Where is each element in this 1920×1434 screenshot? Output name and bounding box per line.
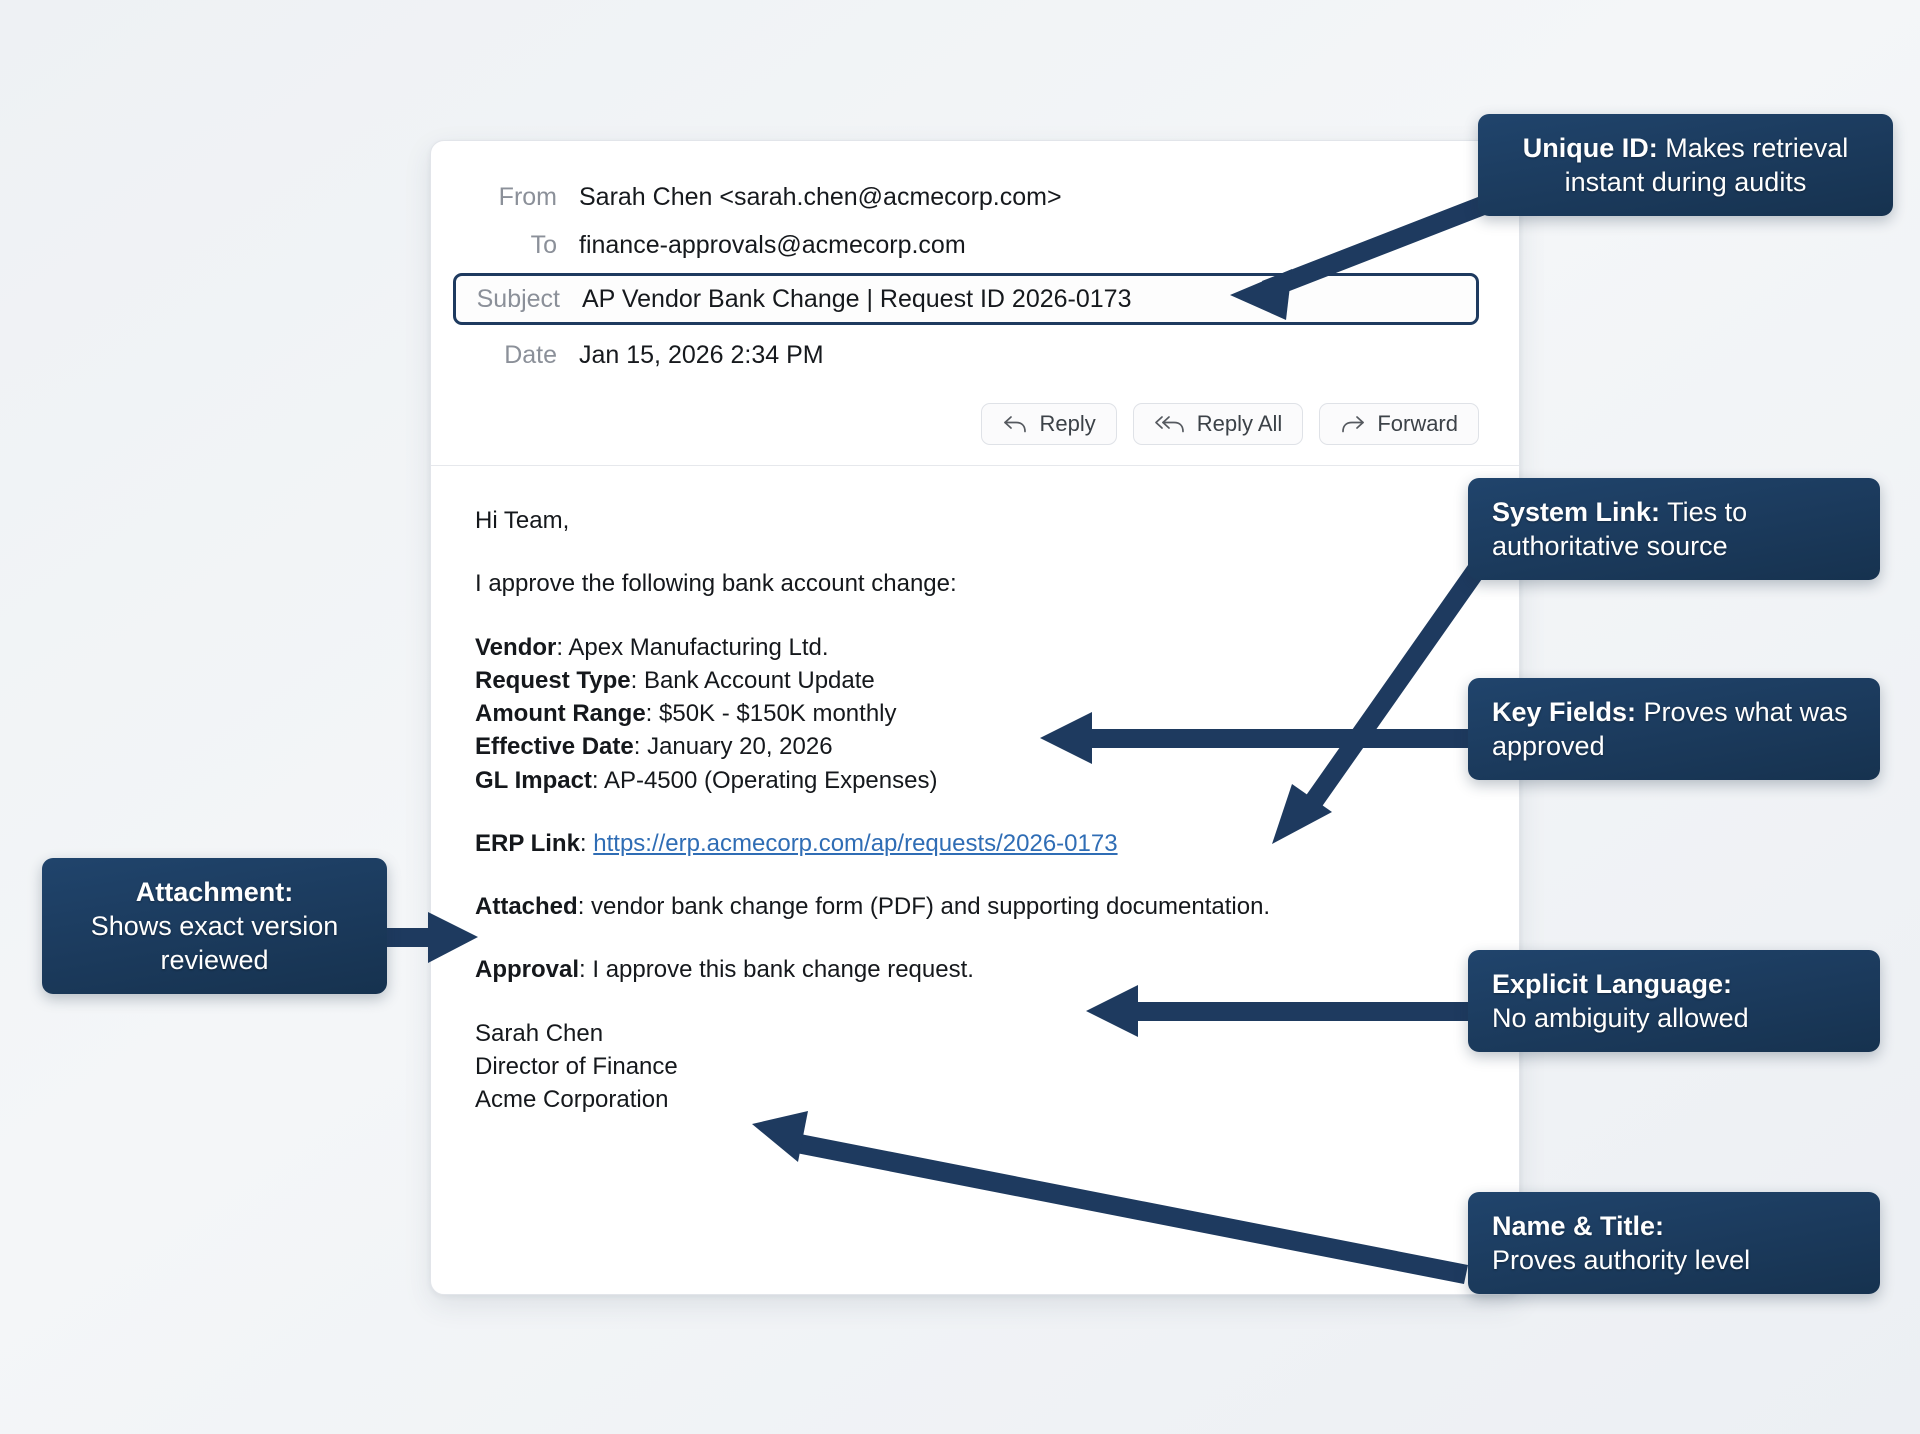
field-amount-range-colon: : [646,700,659,727]
email-header-fields: From Sarah Chen <sarah.chen@acmecorp.com… [431,141,1519,389]
subject-label: Subject [470,284,582,314]
field-amount-range-value: $50K - $150K monthly [659,700,896,727]
callout-unique-id-title: Unique ID: [1523,133,1658,163]
callout-name-title-text: Proves authority level [1492,1245,1750,1275]
subject-value: AP Vendor Bank Change | Request ID 2026-… [582,284,1131,314]
email-action-toolbar: Reply Reply All [431,389,1519,466]
signature-title: Director of Finance [475,1052,1479,1081]
reply-all-button-label: Reply All [1197,413,1283,435]
field-amount-range-key: Amount Range [475,700,646,727]
attached-value: : vendor bank change form (PDF) and supp… [578,893,1270,920]
to-value: finance-approvals@acmecorp.com [579,230,966,260]
callout-name-title: Name & Title:Proves authority level [1468,1192,1880,1294]
field-effective-date-colon: : [634,733,647,760]
field-request-type-key: Request Type [475,667,631,694]
field-gl-impact-colon: : [592,767,604,794]
field-gl-impact-value: AP-4500 (Operating Expenses) [604,767,938,794]
field-request-type-colon: : [631,667,644,694]
field-vendor-key: Vendor [475,634,556,661]
field-effective-date: Effective Date: January 20, 2026 [475,732,1479,761]
from-value: Sarah Chen <sarah.chen@acmecorp.com> [579,182,1062,212]
callout-explicit-language: Explicit Language:No ambiguity allowed [1468,950,1880,1052]
reply-button-label: Reply [1039,413,1095,435]
field-vendor-colon: : [556,634,568,661]
body-erp-link-line: ERP Link: https://erp.acmecorp.com/ap/re… [475,829,1479,858]
field-request-type: Request Type: Bank Account Update [475,666,1479,695]
signature-company: Acme Corporation [475,1085,1479,1114]
reply-button[interactable]: Reply [981,403,1116,445]
approval-key: Approval [475,956,579,983]
erp-link-url[interactable]: https://erp.acmecorp.com/ap/requests/202… [593,830,1117,857]
body-approval-line: Approval: I approve this bank change req… [475,955,1479,984]
date-label: Date [467,340,579,370]
field-vendor: Vendor: Apex Manufacturing Ltd. [475,633,1479,662]
email-message-card: From Sarah Chen <sarah.chen@acmecorp.com… [430,140,1520,1295]
callout-explicit-title: Explicit Language: [1492,969,1732,999]
erp-link-key: ERP Link [475,830,580,857]
header-row-from: From Sarah Chen <sarah.chen@acmecorp.com… [453,173,1479,221]
callout-attachment: Attachment:Shows exact version reviewed [42,858,387,994]
field-effective-date-value: January 20, 2026 [647,733,832,760]
body-intro: I approve the following bank account cha… [475,569,1479,598]
forward-button-label: Forward [1377,413,1458,435]
callout-system-link-title: System Link: [1492,497,1660,527]
callout-unique-id: Unique ID: Makes retrieval instant durin… [1478,114,1893,216]
forward-button[interactable]: Forward [1319,403,1479,445]
field-effective-date-key: Effective Date [475,733,634,760]
callout-system-link: System Link: Ties to authoritative sourc… [1468,478,1880,580]
field-vendor-value: Apex Manufacturing Ltd. [568,634,828,661]
date-value: Jan 15, 2026 2:34 PM [579,340,824,370]
to-label: To [467,230,579,260]
field-gl-impact: GL Impact: AP-4500 (Operating Expenses) [475,766,1479,795]
reply-all-arrow-icon [1154,414,1186,434]
body-attached-line: Attached: vendor bank change form (PDF) … [475,892,1479,921]
approval-value: : I approve this bank change request. [579,956,974,983]
annotated-email-diagram: From Sarah Chen <sarah.chen@acmecorp.com… [0,0,1920,1434]
callout-explicit-text: No ambiguity allowed [1492,1003,1749,1033]
callout-attachment-text: Shows exact version reviewed [91,911,339,975]
header-row-date: Date Jan 15, 2026 2:34 PM [453,331,1479,379]
header-row-subject-highlighted: Subject AP Vendor Bank Change | Request … [453,273,1479,325]
field-request-type-value: Bank Account Update [644,667,875,694]
field-amount-range: Amount Range: $50K - $150K monthly [475,699,1479,728]
signature-name: Sarah Chen [475,1019,1479,1048]
attached-key: Attached [475,893,578,920]
body-greeting: Hi Team, [475,506,1479,535]
forward-arrow-icon [1340,414,1366,434]
callout-key-fields-title: Key Fields: [1492,697,1636,727]
callout-attachment-title: Attachment: [136,877,294,907]
email-signature-block: Sarah Chen Director of Finance Acme Corp… [475,1019,1479,1115]
callout-name-title-title: Name & Title: [1492,1211,1664,1241]
field-gl-impact-key: GL Impact [475,767,592,794]
callout-key-fields: Key Fields: Proves what was approved [1468,678,1880,780]
email-body-content: Hi Team, I approve the following bank ac… [431,466,1519,1148]
reply-arrow-icon [1002,414,1028,434]
reply-all-button[interactable]: Reply All [1133,403,1304,445]
erp-link-separator: : [580,830,593,857]
header-row-to: To finance-approvals@acmecorp.com [453,221,1479,269]
approval-key-fields-list: Vendor: Apex Manufacturing Ltd. Request … [475,633,1479,795]
from-label: From [467,182,579,212]
